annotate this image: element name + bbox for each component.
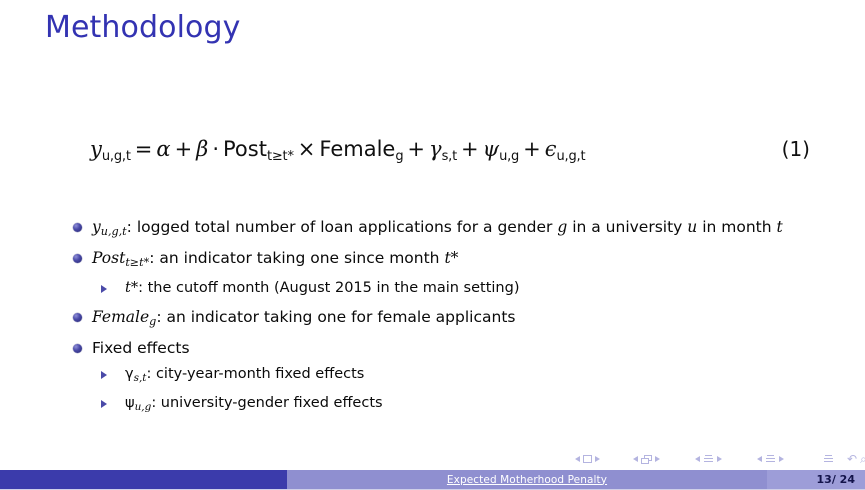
item-text: : an indicator taking one for female app…: [156, 308, 515, 326]
next-arrow-icon[interactable]: [779, 456, 784, 462]
item-text: : city-year-month fixed effects: [146, 366, 364, 382]
item-text: : university-gender fixed effects: [151, 395, 382, 411]
footer-page-segment: 13/ 24: [767, 470, 865, 489]
eq-gamma: γ: [429, 137, 442, 161]
item-symbol-sub: t≥t*: [125, 256, 149, 269]
bullet-icon: [73, 344, 82, 353]
eq-post-sub: t≥t*: [267, 149, 294, 164]
eq-dot: ·: [208, 137, 223, 161]
eq-lhs-sub: u,g,t: [102, 149, 131, 164]
eq-post-term: Post: [223, 137, 267, 161]
bullet-icon: [73, 254, 82, 263]
item-symbol: Female: [92, 308, 149, 326]
item-symbol: γ: [125, 366, 134, 382]
item-text: : logged total number of loan applicatio…: [127, 218, 558, 236]
sub-list-item: t*: the cutoff month (August 2015 in the…: [0, 276, 865, 301]
item-symbol-sub: s,t: [134, 372, 147, 384]
bullet-icon: [73, 223, 82, 232]
eq-alpha: α: [156, 137, 170, 161]
footer-title-segment: Expected Motherhood Penalty: [287, 470, 767, 489]
item-symbol-sub: u,g,t: [101, 225, 127, 238]
item-symbol: ψ: [125, 395, 135, 411]
previous-arrow-icon[interactable]: [575, 456, 580, 462]
page-title: Methodology: [45, 10, 240, 45]
eq-equals: =: [131, 137, 157, 161]
triangle-bullet-icon: [101, 371, 107, 379]
list-item: yu,g,t: logged total number of loan appl…: [0, 214, 865, 245]
slide: Methodology yu,g,t=α+β·Postt≥t*×Femaleg+…: [0, 0, 865, 490]
item-text: : the cutoff month (August 2015 in the m…: [138, 280, 519, 296]
eq-female-term: Female: [319, 137, 395, 161]
previous-arrow-icon[interactable]: [757, 456, 762, 462]
nav-group-subsection[interactable]: [695, 450, 722, 468]
nav-group-frame[interactable]: [633, 450, 660, 468]
next-slide-icon[interactable]: [765, 455, 776, 464]
eq-psi: ψ: [483, 137, 499, 161]
eq-psi-sub: u,g: [499, 149, 519, 164]
footer-link[interactable]: Expected Motherhood Penalty: [447, 474, 607, 486]
sub-list-item: ψu,g: university-gender fixed effects: [0, 391, 865, 420]
last-slide-icon[interactable]: [823, 455, 834, 464]
equation-row: yu,g,t=α+β·Postt≥t*×Femaleg+γs,t+ψu,g+ϵu…: [0, 132, 865, 174]
item-symbol-sub: u,g: [135, 401, 152, 413]
eq-gamma-sub: s,t: [442, 149, 457, 164]
list-item: Fixed effects: [0, 335, 865, 362]
eq-plus-2: +: [403, 137, 429, 161]
nav-group-section[interactable]: [757, 450, 784, 468]
next-arrow-icon[interactable]: [717, 456, 722, 462]
bullet-icon: [73, 313, 82, 322]
list-item: Femaleg: an indicator taking one for fem…: [0, 304, 865, 335]
navigation-symbols: ↶ ⌕ ↷: [575, 450, 855, 468]
eq-epsilon: ϵ: [545, 137, 557, 161]
eq-plus-3: +: [457, 137, 483, 161]
sub-list-item: γs,t: city-year-month fixed effects: [0, 362, 865, 391]
next-arrow-icon[interactable]: [655, 456, 660, 462]
previous-slide-icon[interactable]: [703, 455, 714, 464]
list-item: Postt≥t*: an indicator taking one since …: [0, 245, 865, 276]
eq-plus-1: +: [171, 137, 197, 161]
item-text-3: in month: [697, 218, 776, 236]
item-text: : an indicator taking one since month: [149, 249, 444, 267]
eq-times: ×: [294, 137, 320, 161]
bullet-list: yu,g,t: logged total number of loan appl…: [0, 214, 865, 420]
eq-lhs-var: y: [90, 137, 102, 161]
item-var-t: t: [776, 218, 782, 236]
item-symbol: t*: [125, 280, 138, 296]
back-arrow-icon[interactable]: ↶: [847, 452, 857, 466]
item-text-2: in a university: [567, 218, 687, 236]
triangle-bullet-icon: [101, 400, 107, 408]
regression-equation: yu,g,t=α+β·Postt≥t*×Femaleg+γs,t+ψu,g+ϵu…: [90, 132, 585, 174]
eq-plus-4: +: [519, 137, 545, 161]
search-icon[interactable]: ⌕: [860, 452, 865, 467]
previous-arrow-icon[interactable]: [633, 456, 638, 462]
equation-number: (1): [782, 132, 810, 166]
item-var-tstar: t*: [444, 249, 458, 267]
nav-group-last[interactable]: [823, 450, 834, 468]
item-var-g: g: [557, 218, 567, 236]
item-text: Fixed effects: [92, 339, 190, 357]
footer-left-segment: [0, 470, 287, 489]
page-indicator: 13/ 24: [817, 473, 855, 486]
item-symbol: Post: [92, 249, 125, 267]
nav-group-history[interactable]: ↶ ⌕ ↷: [847, 450, 865, 468]
footer-bar: Expected Motherhood Penalty 13/ 24: [0, 470, 865, 489]
previous-frame-icon[interactable]: [641, 455, 652, 464]
eq-beta: β: [196, 137, 208, 161]
item-symbol: y: [92, 218, 101, 236]
first-slide-icon[interactable]: [583, 455, 592, 463]
previous-arrow-icon[interactable]: [695, 456, 700, 462]
eq-epsilon-sub: u,g,t: [557, 149, 586, 164]
triangle-bullet-icon: [101, 285, 107, 293]
item-var-u: u: [687, 218, 697, 236]
nav-group-slide[interactable]: [575, 450, 600, 468]
next-arrow-icon[interactable]: [595, 456, 600, 462]
